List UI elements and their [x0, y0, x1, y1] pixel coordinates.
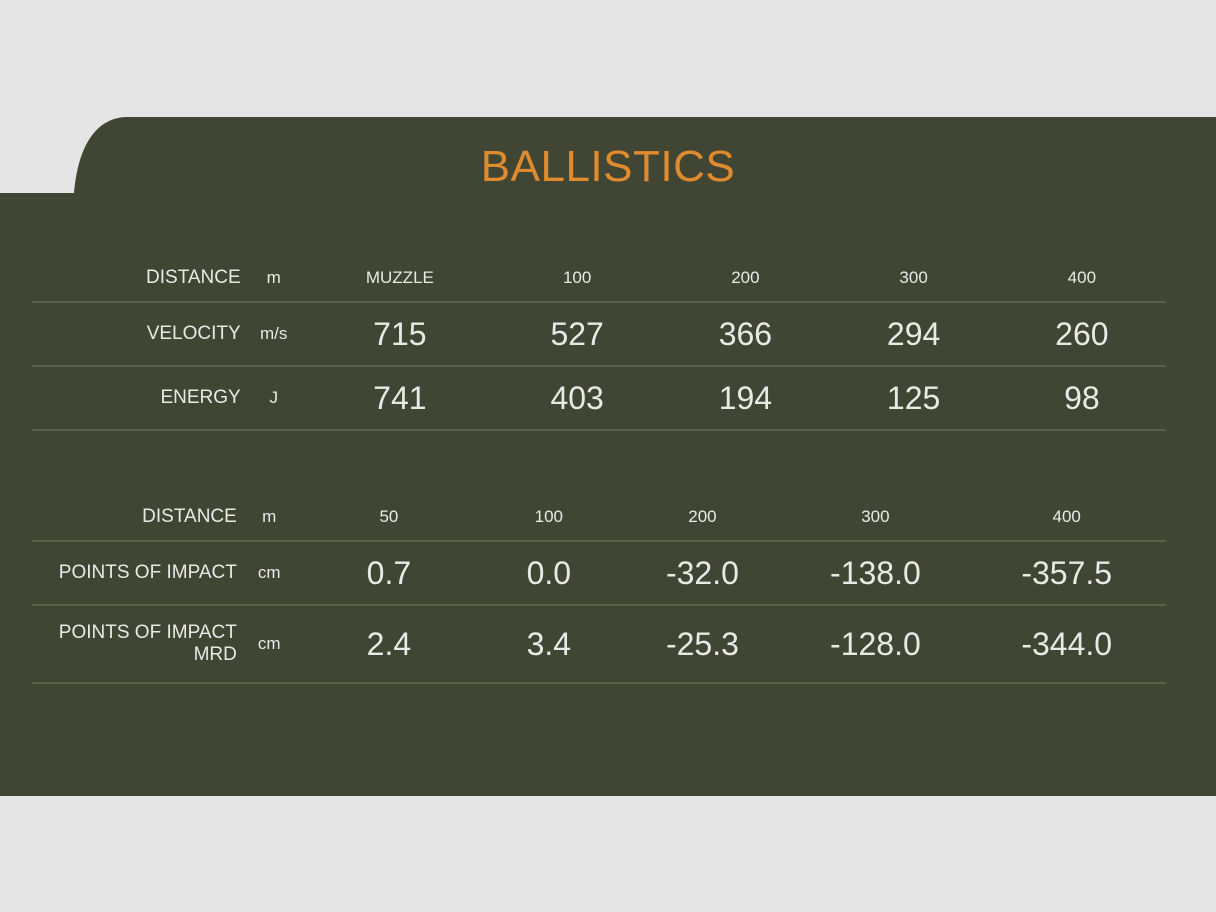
row-unit: m — [237, 494, 302, 541]
cell-energy-300: 125 — [830, 366, 998, 430]
column-header-300: 300 — [830, 255, 998, 302]
row-label-points-of-impact-mrd: POINTS OF IMPACT MRD — [32, 605, 237, 683]
row-unit: J — [241, 366, 307, 430]
points-of-impact-table: DISTANCE m 50 100 200 300 400 POINTS OF … — [32, 494, 1166, 684]
cell-poi-mrd-300: -128.0 — [783, 605, 967, 683]
column-header-400: 400 — [967, 494, 1166, 541]
row-label-distance: DISTANCE — [32, 494, 237, 541]
cell-poi-mrd-400: -344.0 — [967, 605, 1166, 683]
column-header-300: 300 — [783, 494, 967, 541]
cell-energy-400: 98 — [998, 366, 1166, 430]
row-unit: cm — [237, 605, 302, 683]
cell-poi-50: 0.7 — [302, 541, 477, 605]
row-unit: m — [241, 255, 307, 302]
table-row: POINTS OF IMPACT cm 0.7 0.0 -32.0 -138.0… — [32, 541, 1166, 605]
cell-poi-mrd-50: 2.4 — [302, 605, 477, 683]
column-header-200: 200 — [621, 494, 783, 541]
cell-velocity-muzzle: 715 — [307, 302, 493, 366]
table-row: VELOCITY m/s 715 527 366 294 260 — [32, 302, 1166, 366]
table-row: DISTANCE m MUZZLE 100 200 300 400 — [32, 255, 1166, 302]
row-label-line1: POINTS OF IMPACT — [32, 622, 237, 644]
column-header-50: 50 — [302, 494, 477, 541]
table-row: DISTANCE m 50 100 200 300 400 — [32, 494, 1166, 541]
cell-poi-200: -32.0 — [621, 541, 783, 605]
column-header-200: 200 — [661, 255, 829, 302]
slide-root: BALLISTICS DISTANCE m MUZZLE 100 200 300… — [0, 0, 1216, 912]
table-row: ENERGY J 741 403 194 125 98 — [32, 366, 1166, 430]
table-row: POINTS OF IMPACT MRD cm 2.4 3.4 -25.3 -1… — [32, 605, 1166, 683]
cell-velocity-400: 260 — [998, 302, 1166, 366]
cell-velocity-300: 294 — [830, 302, 998, 366]
row-unit: m/s — [241, 302, 307, 366]
row-label-energy: ENERGY — [32, 366, 241, 430]
column-header-muzzle: MUZZLE — [307, 255, 493, 302]
column-header-100: 100 — [476, 494, 621, 541]
cell-energy-100: 403 — [493, 366, 661, 430]
row-label-distance: DISTANCE — [32, 255, 241, 302]
cell-poi-100: 0.0 — [476, 541, 621, 605]
column-header-100: 100 — [493, 255, 661, 302]
column-header-400: 400 — [998, 255, 1166, 302]
cell-poi-300: -138.0 — [783, 541, 967, 605]
cell-poi-400: -357.5 — [967, 541, 1166, 605]
ballistics-table: DISTANCE m MUZZLE 100 200 300 400 VELOCI… — [32, 255, 1166, 431]
cell-poi-mrd-100: 3.4 — [476, 605, 621, 683]
cell-energy-200: 194 — [661, 366, 829, 430]
cell-energy-muzzle: 741 — [307, 366, 493, 430]
row-unit: cm — [237, 541, 302, 605]
row-label-line2: MRD — [32, 644, 237, 666]
cell-velocity-200: 366 — [661, 302, 829, 366]
row-label-velocity: VELOCITY — [32, 302, 241, 366]
content-panel — [0, 117, 1216, 796]
page-title: BALLISTICS — [0, 145, 1216, 189]
cell-velocity-100: 527 — [493, 302, 661, 366]
row-label-points-of-impact: POINTS OF IMPACT — [32, 541, 237, 605]
cell-poi-mrd-200: -25.3 — [621, 605, 783, 683]
